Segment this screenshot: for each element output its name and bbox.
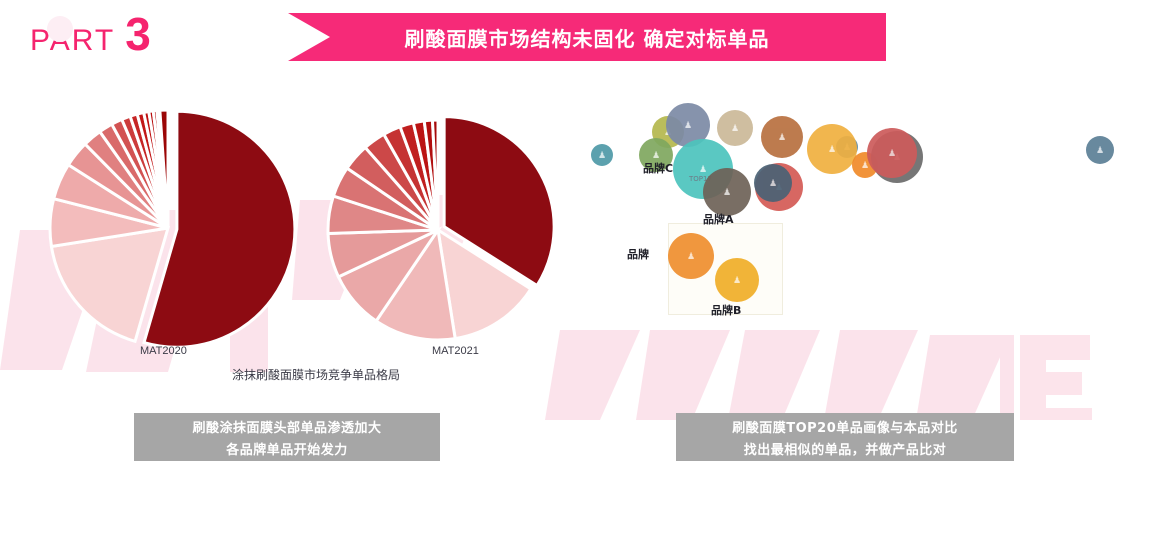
- right-note-line-2: 找出最相似的单品，并做产品比对: [744, 439, 947, 458]
- person-icon: ♟: [684, 121, 692, 130]
- pie-charts-svg: [0, 80, 600, 380]
- bubble-point[interactable]: ♟: [668, 233, 714, 279]
- person-icon: ♟: [733, 276, 741, 285]
- bubble-point[interactable]: ♟: [591, 144, 613, 166]
- person-icon: ♟: [723, 188, 731, 197]
- part-label: PART 3: [30, 14, 151, 58]
- bubble-point[interactable]: ♟: [1086, 136, 1114, 164]
- left-note-line-1: 刷酸涂抹面膜头部单品渗透加大: [192, 417, 381, 436]
- person-icon: ♟: [598, 151, 606, 160]
- left-note-line-2: 各品牌单品开始发力: [226, 439, 348, 458]
- pie-label-mat2021: MAT2021: [432, 345, 479, 357]
- person-icon: ♟: [687, 252, 695, 261]
- person-icon: ♟: [888, 149, 896, 158]
- part-dot-decoration: [47, 16, 73, 42]
- person-icon: ♟: [769, 179, 777, 188]
- bubble-label: 品牌B: [711, 302, 741, 318]
- right-note-line-1: 刷酸面膜TOP20单品画像与本品对比: [732, 417, 958, 436]
- page-title: 刷酸面膜市场结构未固化 确定对标单品: [405, 23, 770, 52]
- bubble-label: 品牌A: [703, 211, 734, 227]
- person-icon: ♟: [1096, 146, 1104, 155]
- slide-root: PART 3 刷酸面膜市场结构未固化 确定对标单品 MAT2020 MAT202…: [0, 0, 1158, 547]
- person-icon: ♟: [652, 151, 660, 160]
- person-icon: ♟: [731, 124, 739, 133]
- bubble-point[interactable]: ♟: [717, 110, 753, 146]
- pie-caption: 涂抹刷酸面膜市场竞争单品格局: [232, 366, 400, 383]
- bubble-point[interactable]: ♟: [761, 116, 803, 158]
- bubble-host: ♟♟♟♟♟♟品牌CTOP17♟♟♟品牌A♟♟♟♟♟♟♟品牌♟品牌B♟: [560, 95, 1158, 325]
- right-note-box: 刷酸面膜TOP20单品画像与本品对比 找出最相似的单品，并做产品比对: [676, 413, 1014, 461]
- title-banner: 刷酸面膜市场结构未固化 确定对标单品: [288, 13, 886, 61]
- bubble-label: 品牌C: [643, 160, 673, 176]
- bubble-point[interactable]: ♟: [807, 124, 857, 174]
- bubble-point[interactable]: ♟: [754, 164, 792, 202]
- pie-label-mat2020: MAT2020: [140, 345, 187, 357]
- bubble-point[interactable]: ♟: [715, 258, 759, 302]
- bubble-label: 品牌: [627, 246, 649, 262]
- pie-chart-area: [0, 80, 600, 400]
- bubble-chart-area: ♟♟♟♟♟♟品牌CTOP17♟♟♟品牌A♟♟♟♟♟♟♟品牌♟品牌B♟: [560, 95, 1158, 325]
- part-number: 3: [125, 14, 151, 55]
- person-icon: ♟: [699, 165, 707, 174]
- bubble-point[interactable]: ♟: [867, 128, 917, 178]
- person-icon: ♟: [778, 133, 786, 142]
- left-note-box: 刷酸涂抹面膜头部单品渗透加大 各品牌单品开始发力: [134, 413, 440, 461]
- bubble-point[interactable]: ♟: [703, 168, 751, 216]
- person-icon: ♟: [828, 145, 836, 154]
